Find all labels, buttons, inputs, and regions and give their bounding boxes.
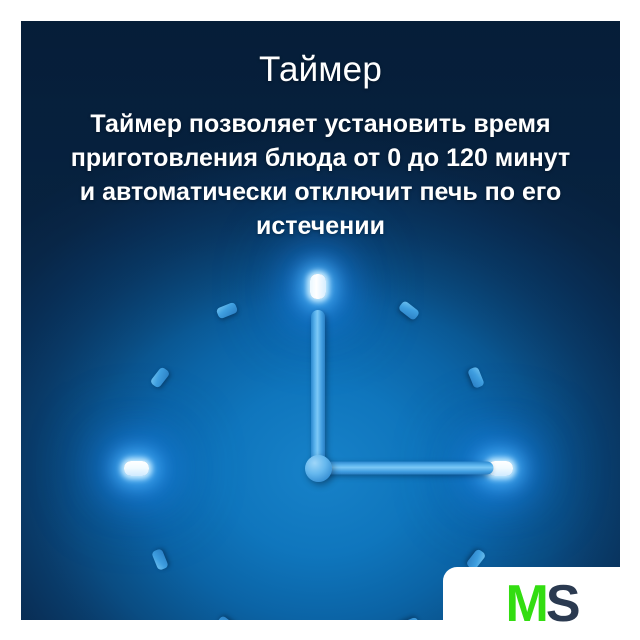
clock-center-hub [305,455,332,482]
description-line: Таймер позволяет установить время [61,107,581,141]
clock-minute-hand [318,462,493,475]
brand-logo-letter-m: M [505,575,545,633]
timer-info-card: Таймер Таймер позволяет установить время… [21,21,620,620]
clock-tick-1 [398,300,421,321]
clock-tick-7 [216,615,239,620]
description-line: и автоматически отключит печь по его [61,175,581,209]
page-title: Таймер [21,49,620,91]
clock-tick-12 [310,274,326,299]
clock-tick-11 [216,302,239,320]
description-line: истечении [61,209,581,243]
clock-tick-8 [152,548,170,571]
card-text-block: Таймер Таймер позволяет установить время… [21,21,620,243]
brand-logo-letter-s: S [546,575,578,633]
brand-logo-text: MS [505,578,577,630]
brand-logo: MS [443,567,640,640]
description-text: Таймер позволяет установить времяпригото… [61,107,581,243]
clock-tick-9 [124,461,149,476]
clock-tick-10 [150,366,171,389]
description-line: приготовления блюда от 0 до 120 минут [61,141,581,175]
clock-tick-5 [398,617,421,620]
screenshot-canvas: Таймер Таймер позволяет установить время… [0,0,640,640]
clock-hour-hand [311,310,325,468]
clock-tick-2 [467,366,485,389]
